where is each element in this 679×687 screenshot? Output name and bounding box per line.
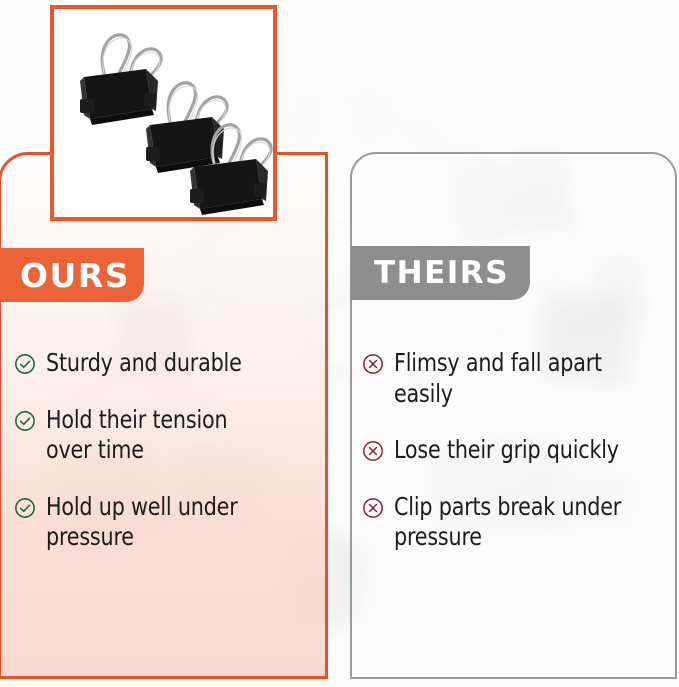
list-item: Hold up well under pressure bbox=[14, 492, 314, 553]
badge-ours: OURS bbox=[0, 248, 144, 302]
x-circle-icon bbox=[362, 353, 384, 375]
x-circle-icon bbox=[362, 497, 384, 519]
binder-clip-group bbox=[54, 9, 273, 217]
check-circle-icon bbox=[14, 497, 36, 519]
x-circle-icon bbox=[362, 440, 384, 462]
list-item: Clip parts break under pressure bbox=[362, 492, 667, 553]
badge-theirs: THEIRS bbox=[350, 246, 530, 300]
list-item-label: Lose their grip quickly bbox=[394, 435, 619, 466]
list-item: Flimsy and fall apart easily bbox=[362, 348, 667, 409]
feature-list-ours: Sturdy and durable Hold their tension ov… bbox=[14, 348, 314, 579]
feature-list-theirs: Flimsy and fall apart easily Lose their … bbox=[362, 348, 667, 579]
list-item-label: Flimsy and fall apart easily bbox=[394, 348, 602, 409]
comparison-graphic: OURS THEIRS Sturdy and durable Hold thei… bbox=[0, 0, 679, 687]
list-item: Hold their tension over time bbox=[14, 405, 314, 466]
list-item-label: Hold up well under pressure bbox=[46, 492, 238, 553]
check-circle-icon bbox=[14, 353, 36, 375]
check-circle-icon bbox=[14, 410, 36, 432]
product-photo-inset bbox=[50, 5, 277, 221]
list-item-label: Hold their tension over time bbox=[46, 405, 227, 466]
list-item-label: Sturdy and durable bbox=[46, 348, 242, 379]
binder-clip-illustration bbox=[54, 9, 281, 225]
list-item: Sturdy and durable bbox=[14, 348, 314, 379]
list-item: Lose their grip quickly bbox=[362, 435, 667, 466]
list-item-label: Clip parts break under pressure bbox=[394, 492, 621, 553]
